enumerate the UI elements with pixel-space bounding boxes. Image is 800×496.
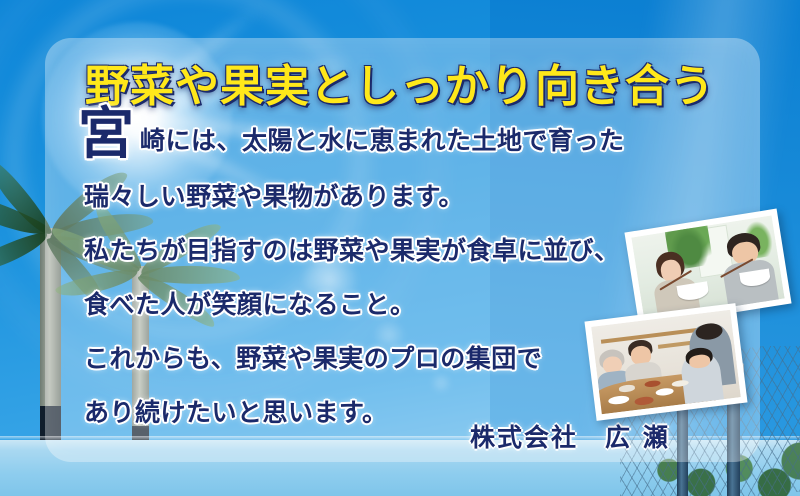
family-dining-table-photo xyxy=(584,303,747,421)
body-line-1: 宮 崎には、太陽と水に恵まれた土地で育った xyxy=(84,128,644,153)
body-line-3: 私たちが目指すのは野菜や果実が食卓に並び、 xyxy=(84,238,644,263)
family-dining-image xyxy=(591,310,741,414)
body-line-4: 食べた人が笑顔になること。 xyxy=(84,292,644,317)
drop-cap: 宮 xyxy=(78,106,134,162)
body-copy: 宮 崎には、太陽と水に恵まれた土地で育った 瑞々しい野菜や果物があります。 私た… xyxy=(84,128,644,454)
company-signature: 株式会社 広 瀬 xyxy=(470,418,670,454)
body-line-1-text: 崎には、太陽と水に恵まれた土地で育った xyxy=(140,126,625,155)
poster-canvas: 野菜や果実としっかり向き合う 宮 崎には、太陽と水に恵まれた土地で育った 瑞々し… xyxy=(0,0,800,496)
body-line-5: これからも、野菜や果実のプロの集団で xyxy=(84,346,644,371)
man-figure xyxy=(718,230,780,308)
couple-eating-rice-image xyxy=(631,215,784,320)
body-line-2: 瑞々しい野菜や果物があります。 xyxy=(84,184,644,209)
